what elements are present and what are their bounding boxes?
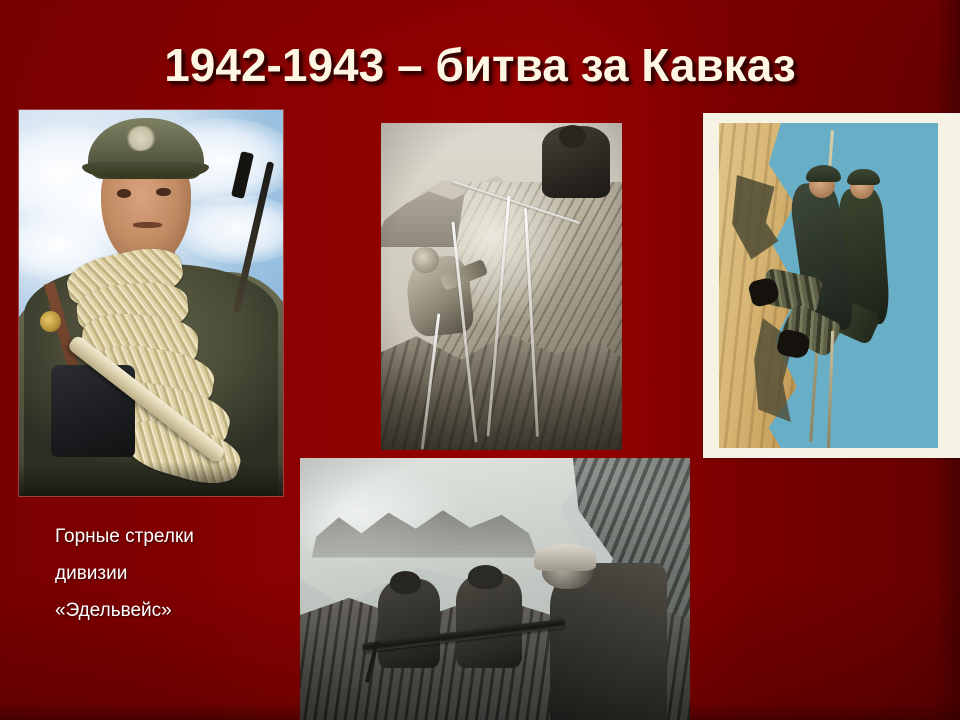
slide-canvas: 1942-1943 – битва за Кавказ [0, 0, 960, 720]
lead-soldier-cap [806, 165, 841, 181]
photo-mountain-trooper-portrait [19, 110, 283, 496]
photo-bottom-shade [19, 461, 283, 496]
caption-line-3: «Эдельвейс» [55, 592, 285, 629]
caption-line-1: Горные стрелки [55, 518, 285, 555]
photo-machine-gun-position [300, 458, 690, 720]
photo-rappelling-pair [703, 113, 960, 458]
photo-image-area [719, 123, 938, 448]
photo-vignette [300, 458, 690, 720]
photo-climbers-on-rock [381, 123, 622, 450]
caption-line-2: дивизии [55, 555, 285, 592]
photo-vignette [381, 123, 622, 450]
photo-caption: Горные стрелки дивизии «Эдельвейс» [55, 518, 285, 629]
mouth [133, 222, 162, 228]
eye-left [117, 189, 132, 197]
shoulder-badge [40, 311, 61, 332]
slide-title: 1942-1943 – битва за Кавказ [0, 38, 960, 92]
